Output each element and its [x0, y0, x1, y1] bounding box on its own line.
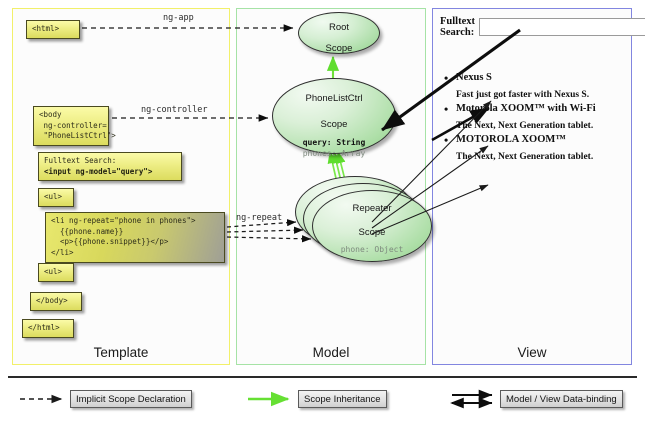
code-box-ul-open: <ul> — [38, 188, 74, 207]
legend-label-implicit-scope-declaration: Implicit Scope Declaration — [70, 390, 192, 408]
fulltext-search-input-line: <input ng-model="query"> — [44, 167, 152, 176]
code-box-fulltext-search: Fulltext Search: <input ng-model="query"… — [38, 152, 182, 181]
legend-item-scope-inheritance: Scope Inheritance — [246, 389, 387, 409]
legend-label-scope-inheritance: Scope Inheritance — [298, 390, 387, 408]
scope-root: Root Scope — [298, 12, 380, 54]
legend-separator — [8, 376, 637, 378]
list-item[interactable]: MOTOROLA XOOM™ The Next, Next Generation… — [440, 134, 626, 162]
view-search-label: Fulltext Search: — [440, 16, 475, 38]
scope-root-title-line2: Scope — [299, 34, 379, 55]
phone-snippet: Fast just got faster with Nexus S. — [440, 90, 626, 100]
diagram-canvas: Template Model View <html> <body ng-cont… — [0, 0, 645, 425]
panel-template: Template — [12, 8, 230, 365]
label-ng-controller: ng-controller — [141, 105, 208, 115]
scope-prop-query: query: String — [273, 138, 395, 148]
scope-root-title-line1: Root — [299, 13, 379, 34]
label-ng-app: ng-app — [163, 13, 194, 23]
scope-prop-phones: phones: Array — [273, 149, 395, 159]
code-box-html-close: </html> — [22, 319, 74, 338]
phone-name: Nexus S — [440, 72, 626, 83]
legend-item-model-view-data-binding: Model / View Data-binding — [448, 389, 623, 409]
scope-repeater-title-line2: Scope — [313, 215, 431, 239]
view-search-row: Fulltext Search: — [440, 16, 626, 38]
legend-label-model-view-data-binding: Model / View Data-binding — [500, 390, 623, 408]
legend-arrow-green — [246, 389, 298, 409]
code-box-body-open: <body ng-controller= "PhoneListCtrl"> — [33, 106, 109, 146]
code-box-li-ng-repeat: <li ng-repeat="phone in phones"> {{phone… — [45, 212, 225, 263]
scope-prop-phone: phone: Object — [313, 245, 431, 255]
panel-label-template: Template — [13, 345, 229, 360]
phone-snippet: The Next, Next Generation tablet. — [440, 121, 626, 131]
legend-arrow-bidirectional — [448, 389, 500, 409]
panel-label-view: View — [433, 345, 631, 360]
legend-arrow-dashed — [18, 389, 70, 409]
code-box-html-open: <html> — [26, 20, 80, 39]
phone-name: MOTOROLA XOOM™ — [440, 134, 626, 145]
fulltext-search-label-line: Fulltext Search: — [44, 156, 116, 165]
scope-ctrl-title-line2: Scope — [273, 105, 395, 131]
scope-repeater-title-line1: Repeater — [313, 191, 431, 215]
phone-snippet: The Next, Next Generation tablet. — [440, 152, 626, 162]
scope-ctrl-title-line1: PhoneListCtrl — [273, 79, 395, 105]
panel-label-model: Model — [237, 345, 425, 360]
label-ng-repeat: ng-repeat — [236, 213, 282, 223]
list-item[interactable]: Motorola XOOM™ with Wi-Fi The Next, Next… — [440, 103, 626, 131]
code-box-ul-close: <ul> — [38, 263, 74, 282]
view-search-input[interactable] — [479, 18, 645, 36]
legend-item-implicit-scope-declaration: Implicit Scope Declaration — [18, 389, 192, 409]
scope-repeater: Repeater Scope phone: Object — [312, 190, 432, 262]
scope-repeater-props: phone: Object — [313, 245, 431, 255]
phone-name: Motorola XOOM™ with Wi-Fi — [440, 103, 626, 114]
view-phone-list: Nexus S Fast just got faster with Nexus … — [440, 72, 626, 162]
scope-ctrl-props: query: String phones: Array — [273, 138, 395, 159]
legend: Implicit Scope Declaration Scope Inherit… — [8, 386, 637, 416]
list-item[interactable]: Nexus S Fast just got faster with Nexus … — [440, 72, 626, 100]
code-box-body-close: </body> — [30, 292, 82, 311]
scope-phonelistctrl: PhoneListCtrl Scope query: String phones… — [272, 78, 396, 154]
view-rendered-output: Fulltext Search: Nexus S Fast just got f… — [440, 16, 626, 178]
